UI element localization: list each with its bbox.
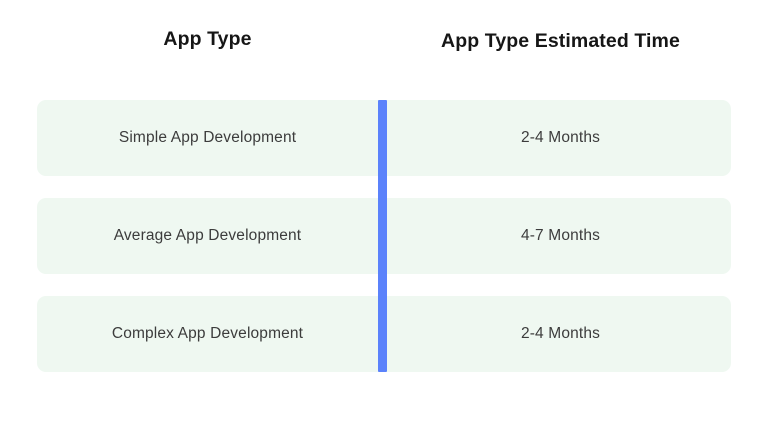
- cell-app-type: Simple App Development: [37, 100, 378, 176]
- header-divider-spacer: [378, 0, 390, 100]
- column-header-estimated-time: App Type Estimated Time: [390, 0, 731, 100]
- cell-estimated-time-label: 2-4 Months: [521, 324, 600, 345]
- column-header-app-type-label: App Type: [163, 27, 251, 53]
- cell-estimated-time: 2-4 Months: [390, 100, 731, 176]
- column-header-estimated-time-label: App Type Estimated Time: [441, 29, 680, 55]
- cell-estimated-time: 4-7 Months: [390, 198, 731, 274]
- cell-app-type-label: Average App Development: [114, 226, 302, 247]
- cell-estimated-time-label: 2-4 Months: [521, 128, 600, 149]
- cell-app-type: Complex App Development: [37, 296, 378, 372]
- cell-estimated-time-label: 4-7 Months: [521, 226, 600, 247]
- cell-app-type-label: Simple App Development: [119, 128, 296, 149]
- cell-app-type: Average App Development: [37, 198, 378, 274]
- table-header-row: App Type App Type Estimated Time: [37, 0, 731, 100]
- column-header-app-type: App Type: [37, 0, 378, 100]
- app-type-estimated-time-table: App Type App Type Estimated Time Simple …: [0, 0, 768, 424]
- column-divider: [378, 100, 387, 372]
- cell-estimated-time: 2-4 Months: [390, 296, 731, 372]
- cell-app-type-label: Complex App Development: [112, 324, 303, 345]
